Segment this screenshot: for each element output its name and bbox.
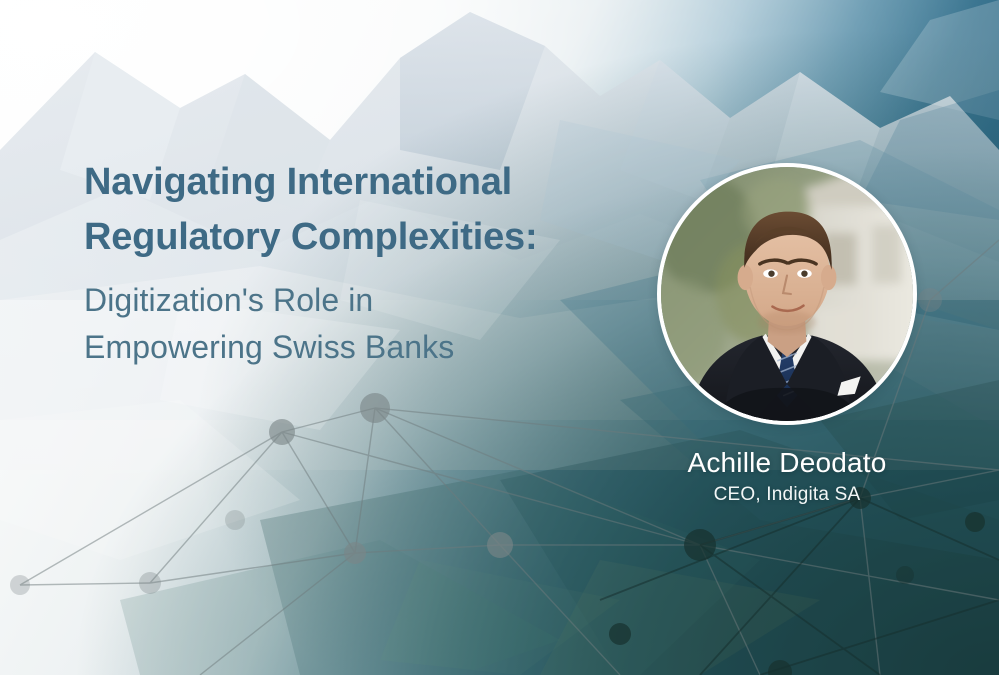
speaker-role: CEO, Indigita SA (617, 484, 957, 506)
subheadline-line-1: Digitization's Role in (84, 277, 644, 324)
headline-line-1: Navigating International (84, 155, 644, 210)
webinar-title-card: Navigating International Regulatory Comp… (0, 0, 999, 675)
portrait-photo (661, 167, 913, 421)
speaker-avatar (657, 163, 917, 425)
page-subtitle: Digitization's Role in Empowering Swiss … (84, 277, 644, 371)
headline-line-2: Regulatory Complexities: (84, 210, 644, 265)
speaker-name: Achille Deodato (617, 447, 957, 479)
subheadline-line-2: Empowering Swiss Banks (84, 324, 644, 371)
page-title: Navigating International Regulatory Comp… (84, 155, 644, 265)
